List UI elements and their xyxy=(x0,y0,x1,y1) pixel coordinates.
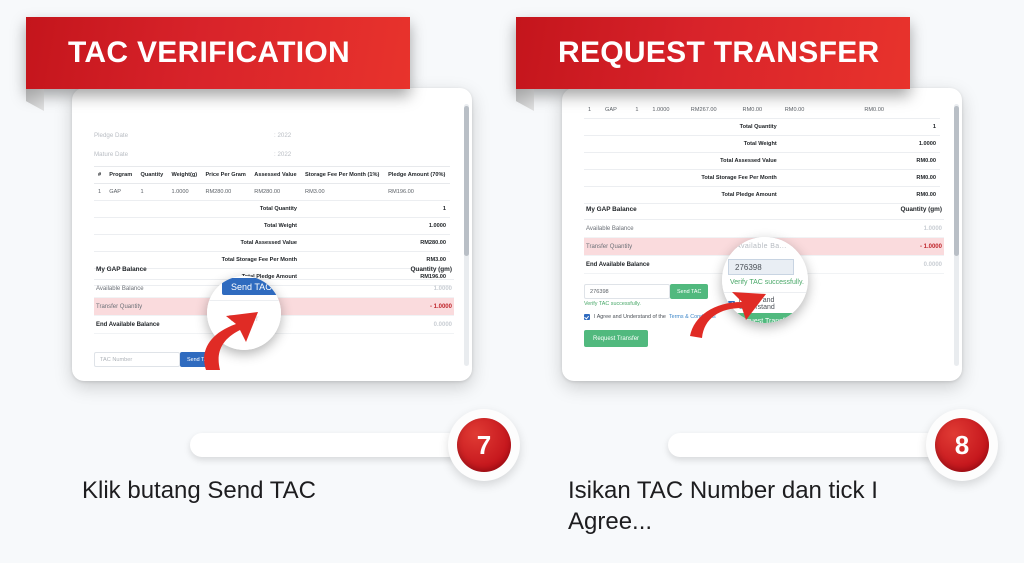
total-row: Total Weight 1.0000 xyxy=(94,218,450,235)
step-7-caption: Klik butang Send TAC xyxy=(82,476,442,507)
cell-price-per-gram: RM280.00 xyxy=(201,184,250,201)
balance-header: My GAP Balance Quantity (gm) xyxy=(584,200,944,220)
pledge-date-value: : 2022 xyxy=(274,132,446,139)
available-balance-row: Available Balance 1.0000 xyxy=(584,220,944,238)
col-pledge-amount: Pledge Amount (70%) xyxy=(384,167,450,184)
scrollbar[interactable] xyxy=(464,104,469,366)
balance-title: My GAP Balance xyxy=(96,266,147,273)
total-assessed-value: RM0.00 xyxy=(781,153,940,170)
balance-quantity-header: Quantity (gm) xyxy=(410,266,452,273)
date-row: Mature Date : 2022 xyxy=(94,145,446,164)
mature-date-value: : 2022 xyxy=(274,151,446,158)
available-balance-label: Available Balance xyxy=(586,226,634,232)
col-index: # xyxy=(94,167,105,184)
step-8-caption: Isikan TAC Number dan tick I Agree... xyxy=(568,476,938,537)
total-row: Total Quantity 1 xyxy=(584,119,940,136)
transfer-quantity-value: - 1.0000 xyxy=(430,304,452,310)
total-quantity-label: Total Quantity xyxy=(584,119,781,136)
total-weight-label: Total Weight xyxy=(94,218,301,235)
scrollbar[interactable] xyxy=(954,104,959,366)
total-assessed-value-label: Total Assessed Value xyxy=(584,153,781,170)
cell-price-per-gram: RM267.00 xyxy=(687,102,739,119)
step-7-badge: 7 xyxy=(448,409,520,481)
cell-pledge-amount: RM0.00 xyxy=(860,102,940,119)
col-price-per-gram: Price Per Gram xyxy=(201,167,250,184)
total-assessed-value-label: Total Assessed Value xyxy=(94,235,301,252)
cell-program: GAP xyxy=(105,184,136,201)
tac-number-input[interactable]: TAC Number xyxy=(94,352,180,367)
end-available-balance-value: 0.0000 xyxy=(924,262,942,268)
total-row: Total Assessed Value RM0.00 xyxy=(584,153,940,170)
cell-pledge-amount: RM196.00 xyxy=(384,184,450,201)
total-quantity-value: 1 xyxy=(301,201,450,218)
end-available-balance-value: 0.0000 xyxy=(434,322,452,328)
cell-storage-fee: RM0.00 xyxy=(781,102,861,119)
cell-weight: 1.0000 xyxy=(648,102,686,119)
total-row: Total Storage Fee Per Month RM0.00 xyxy=(584,170,940,187)
total-row: Total Weight 1.0000 xyxy=(584,136,940,153)
cell-storage-fee: RM3.00 xyxy=(301,184,384,201)
banner-fold-decoration xyxy=(516,89,534,111)
table-header-row: # Program Quantity Weight(g) Price Per G… xyxy=(94,167,450,184)
col-assessed-value: Assessed Value xyxy=(250,167,301,184)
col-storage-fee: Storage Fee Per Month (1%) xyxy=(301,167,384,184)
magnified-tac-number-input[interactable]: 276398 xyxy=(728,259,794,275)
total-row: Total Assessed Value RM280.00 xyxy=(94,235,450,252)
step-7-number: 7 xyxy=(457,418,511,472)
step-8-ribbon xyxy=(668,433,968,457)
available-balance-label: Available Balance xyxy=(96,286,144,292)
step-8-badge: 8 xyxy=(926,409,998,481)
request-transfer-button[interactable]: Request Transfer xyxy=(584,330,648,347)
cell-assessed-value: RM0.00 xyxy=(739,102,781,119)
available-balance-value: 1.0000 xyxy=(434,286,452,292)
step-8-banner: REQUEST TRANSFER xyxy=(516,17,910,89)
end-available-balance-label: End Available Balance xyxy=(586,262,650,268)
total-weight-label: Total Weight xyxy=(584,136,781,153)
scrollbar-thumb[interactable] xyxy=(954,106,959,256)
step-7-ribbon xyxy=(190,433,490,457)
total-quantity-label: Total Quantity xyxy=(94,201,301,218)
balance-title: My GAP Balance xyxy=(586,206,637,213)
pledge-info-dates: Pledge Date : 2022 Mature Date : 2022 xyxy=(94,126,446,164)
table-row: 1 GAP 1 1.0000 RM280.00 RM280.00 RM3.00 … xyxy=(94,184,450,201)
total-weight-value: 1.0000 xyxy=(301,218,450,235)
step-7-banner-title: TAC VERIFICATION xyxy=(26,36,350,70)
cell-quantity: 1 xyxy=(137,184,168,201)
balance-quantity-header: Quantity (gm) xyxy=(900,206,942,213)
total-weight-value: 1.0000 xyxy=(781,136,940,153)
cell-quantity: 1 xyxy=(631,102,648,119)
step-7-pointer-arrow xyxy=(196,300,266,372)
pledge-date-label: Pledge Date xyxy=(94,132,274,139)
banner-fold-decoration xyxy=(26,89,44,111)
cell-weight: 1.0000 xyxy=(167,184,201,201)
total-quantity-value: 1 xyxy=(781,119,940,136)
total-assessed-value: RM280.00 xyxy=(301,235,450,252)
table-row: 1 GAP 1 1.0000 RM267.00 RM0.00 RM0.00 RM… xyxy=(584,102,940,119)
total-storage-fee-label: Total Storage Fee Per Month xyxy=(584,170,781,187)
mature-date-label: Mature Date xyxy=(94,151,274,158)
total-storage-fee-value: RM0.00 xyxy=(781,170,940,187)
transfer-quantity-value: - 1.0000 xyxy=(920,244,942,250)
cell-index: 1 xyxy=(94,184,105,201)
transfer-quantity-label: Transfer Quantity xyxy=(96,304,142,310)
cell-assessed-value: RM280.00 xyxy=(250,184,301,201)
tac-number-input[interactable]: 276398 xyxy=(584,284,670,299)
col-program: Program xyxy=(105,167,136,184)
available-balance-value: 1.0000 xyxy=(924,226,942,232)
agree-checkbox[interactable] xyxy=(584,314,590,320)
transfer-quantity-label: Transfer Quantity xyxy=(586,244,632,250)
col-weight: Weight(g) xyxy=(167,167,201,184)
scrollbar-thumb[interactable] xyxy=(464,106,469,256)
cell-program: GAP xyxy=(601,102,631,119)
magnified-send-tac-button[interactable]: Send TAC xyxy=(222,278,281,295)
col-quantity: Quantity xyxy=(137,167,168,184)
date-row: Pledge Date : 2022 xyxy=(94,126,446,145)
step-7-banner: TAC VERIFICATION xyxy=(26,17,410,89)
end-available-balance-label: End Available Balance xyxy=(96,322,160,328)
total-row: Total Quantity 1 xyxy=(94,201,450,218)
step-8-banner-title: REQUEST TRANSFER xyxy=(516,36,879,70)
pledge-items-table: 1 GAP 1 1.0000 RM267.00 RM0.00 RM0.00 RM… xyxy=(584,102,940,204)
step-8-pointer-arrow xyxy=(688,280,768,342)
agree-label: I Agree and Understand of the xyxy=(594,314,666,320)
verify-tac-message: Verify TAC successfully. xyxy=(584,301,641,307)
magnified-available-balance-label: Available Ba... xyxy=(736,243,787,250)
step-8-number: 8 xyxy=(935,418,989,472)
cell-index: 1 xyxy=(584,102,601,119)
